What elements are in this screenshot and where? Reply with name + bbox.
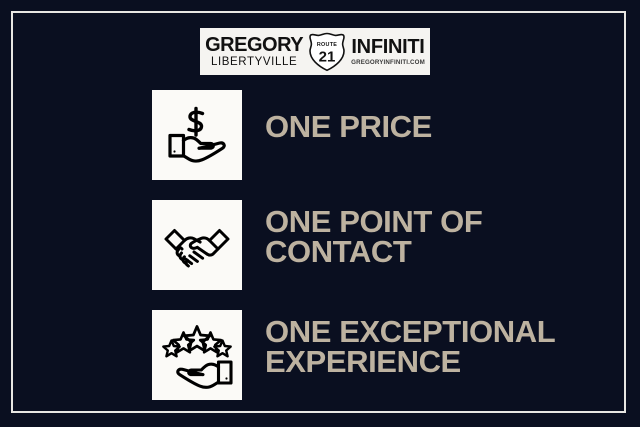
logo-brand-primary: GREGORY (205, 35, 303, 55)
route-shield-icon: ROUTE 21 (308, 32, 346, 72)
benefit-headline: ONE POINT OF CONTACT (265, 207, 482, 268)
logo-brand-primary-group: GREGORY LIBERTYVILLE (205, 35, 303, 69)
logo-website-url: GREGORYINFINITI.COM (351, 60, 425, 66)
logo-brand-secondary-group: INFINITI GREGORYINFINITI.COM (351, 37, 425, 66)
benefit-row-one-point-of-contact: ONE POINT OF CONTACT (152, 200, 482, 290)
handshake-icon (152, 200, 242, 290)
benefit-row-one-exceptional-experience: ONE EXCEPTIONAL EXPERIENCE (152, 310, 555, 400)
benefit-row-one-price: ONE PRICE (152, 90, 432, 180)
benefit-headline: ONE PRICE (265, 112, 432, 142)
benefit-headline: ONE EXCEPTIONAL EXPERIENCE (265, 317, 555, 378)
hand-with-dollar-icon (152, 90, 242, 180)
logo-brand-secondary: INFINITI (351, 37, 424, 57)
promo-graphic: GREGORY LIBERTYVILLE ROUTE 21 INFINITI G… (0, 0, 640, 427)
svg-text:ROUTE: ROUTE (317, 42, 337, 48)
dealership-logo: GREGORY LIBERTYVILLE ROUTE 21 INFINITI G… (200, 28, 430, 75)
logo-brand-location: LIBERTYVILLE (211, 57, 297, 69)
hand-with-stars-icon (152, 310, 242, 400)
svg-text:21: 21 (319, 48, 336, 65)
